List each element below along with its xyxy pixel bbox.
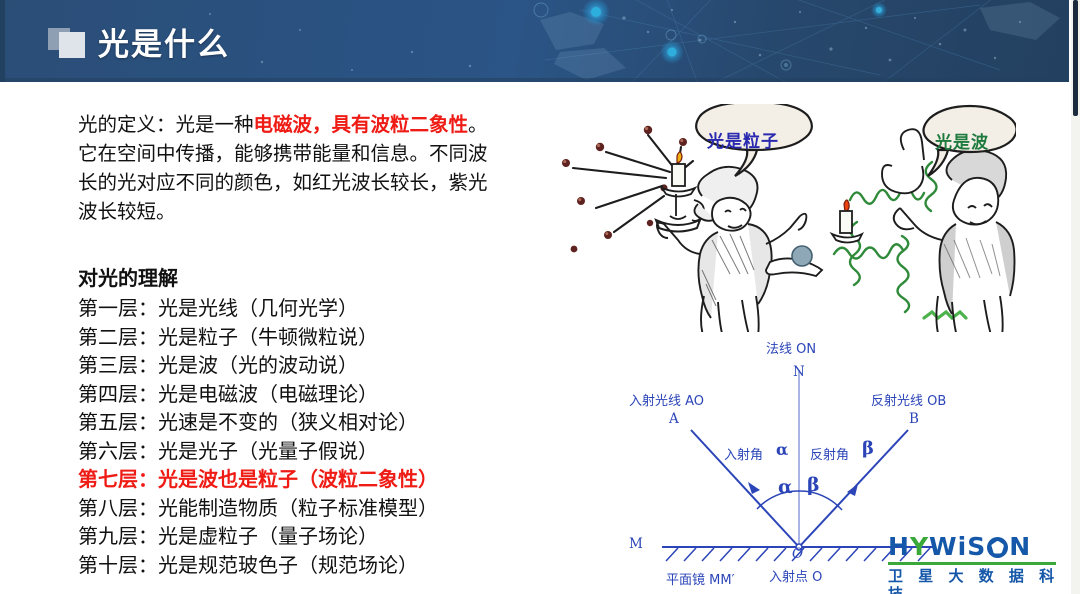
incident-ray-label: 入射光线 AO [629,390,704,409]
layer-text: 光是规范玻色子（规范场论） [158,553,418,577]
incident-angle-symbol: α [776,440,788,459]
list-item: 第二层：光是粒子（牛顿微粒说） [78,323,498,352]
list-item: 第八层：光能制造物质（粒子标准模型） [78,494,498,523]
left-content-column: 光的定义：光是一种电磁波，具有波粒二象性。它在空间中传播，能够携带能量和信息。不… [78,110,498,579]
logo-letter-i: i [958,534,968,560]
header-bottom-edge [0,78,1072,82]
layer-label: 第七层： [78,467,158,491]
layer-text: 光是电磁波（电磁理论） [158,382,378,406]
reflected-angle-symbol: β [862,438,874,459]
list-item-highlighted: 第七层：光是波也是粒子（波粒二象性） [78,465,498,494]
newton-huygens-cartoon: 光是粒子 光是波 [552,104,1016,332]
logo-letter-h: H [888,534,910,560]
logo-letter-w: W [929,534,958,560]
incident-arrow [748,482,760,494]
aperture-icon [987,537,1008,558]
layer-label: 第三层： [78,353,158,377]
list-item: 第九层：光是虚粒子（量子场论） [78,522,498,551]
normal-label: 法线 ON [766,338,816,357]
logo-subtitle: 卫 星 大 数 据 科 技 [888,567,1066,594]
point-a-label: A [669,411,679,427]
slide-root: 光是什么 光的定义：光是一种电磁波，具有波粒二象性。它在空间中传播，能够携带能量… [0,0,1080,594]
incident-point-label: 入射点 O [769,566,822,585]
page-title: 光是什么 [98,19,230,64]
layer-text: 光能制造物质（粒子标准模型） [158,496,438,520]
incident-angle-label: 入射角 [724,444,763,463]
list-item: 第四层：光是电磁波（电磁理论） [78,380,498,409]
list-item: 第十层：光是规范玻色子（规范场论） [78,551,498,580]
hywison-logo: HYWiSN 卫 星 大 数 据 科 技 卫星大数据 [888,534,1066,590]
bubble-text-wave: 光是波 [935,128,989,153]
definition-paragraph: 光的定义：光是一种电磁波，具有波粒二象性。它在空间中传播，能够携带能量和信息。不… [78,110,498,226]
layer-label: 第六层： [78,439,158,463]
layer-label: 第五层： [78,410,158,434]
layer-label: 第一层： [78,296,158,320]
definition-lead: 光的定义：光是一种 [78,113,254,136]
list-item: 第六层：光是光子（光量子假说） [78,437,498,466]
mirror-label: 平面镜 MM′ [666,569,735,588]
layer-text: 光是粒子（牛顿微粒说） [158,325,378,349]
logo-letter-y: Y [910,534,929,560]
point-b-label: B [909,411,919,427]
layer-text: 光是光线（几何光学） [158,296,358,320]
scrollbar-thumb[interactable] [1073,0,1078,116]
layer-text: 光是波也是粒子（波粒二象性） [158,467,438,491]
point-o-label: O [792,546,803,562]
bubble-text-particle: 光是粒子 [707,127,779,152]
vertical-scrollbar[interactable] [1070,0,1080,594]
definition-highlight: 电磁波，具有波粒二象性 [254,113,469,136]
reflected-angle-label: 反射角 [810,444,849,463]
square-front [59,32,85,58]
layer-text: 光是虚粒子（量子场论） [158,524,378,548]
logo-divider [888,562,1056,565]
layer-text: 光是光子（光量子假说） [158,439,378,463]
logo-wordmark: HYWiSN [888,534,1066,560]
beta-big-symbol: β [807,474,820,496]
layer-text: 光是波（光的波动说） [158,353,358,377]
logo-letter-s: S [967,534,986,560]
slide-header: 光是什么 [0,0,1072,82]
list-item: 第一层：光是光线（几何光学） [78,294,498,323]
alpha-big-symbol: α [778,476,793,498]
reflected-ray-label: 反射光线 OB [871,390,946,409]
layer-label: 第九层： [78,524,158,548]
layer-text: 光速是不变的（狭义相对论） [158,410,418,434]
header-left-edge [0,0,5,82]
layer-label: 第二层： [78,325,158,349]
point-n-label: N [793,364,805,380]
layer-label: 第八层： [78,496,158,520]
list-item: 第五层：光速是不变的（狭义相对论） [78,408,498,437]
right-frame-gap [1069,0,1071,594]
layer-label: 第十层： [78,553,158,577]
logo-letter-n: N [1009,534,1031,560]
two-squares-icon [48,28,88,60]
point-m-label: M [629,536,643,552]
layer-list: 第一层：光是光线（几何光学） 第二层：光是粒子（牛顿微粒说） 第三层：光是波（光… [78,294,498,579]
section-title-understanding: 对光的理解 [78,264,498,292]
list-item: 第三层：光是波（光的波动说） [78,351,498,380]
layer-label: 第四层： [78,382,158,406]
